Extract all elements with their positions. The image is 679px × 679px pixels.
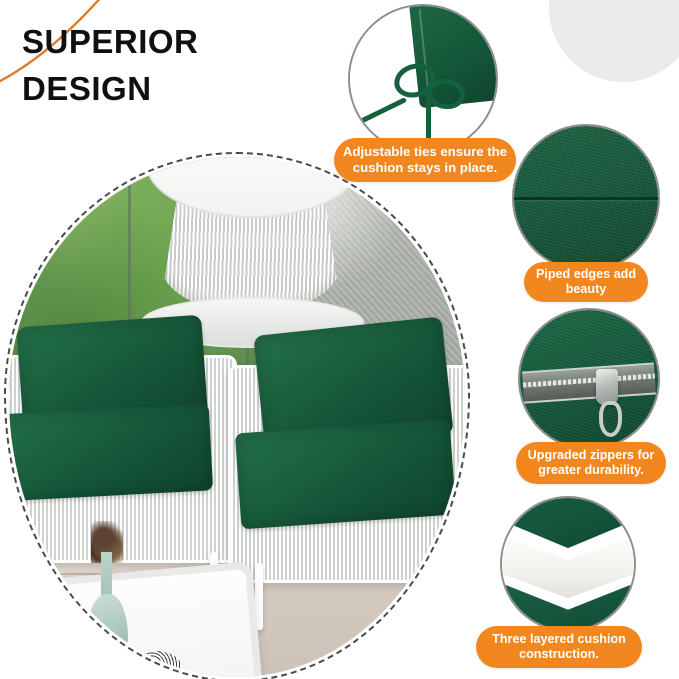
upgraded-zippers-photo (518, 308, 660, 450)
piped-edges-label[interactable]: Piped edges add beauty (524, 262, 648, 302)
infographic-canvas: SUPERIOR DESIGN (0, 0, 679, 679)
patio-chair-right (228, 365, 465, 583)
vase (87, 594, 128, 662)
candle-stand (45, 654, 85, 677)
hero-photo (4, 152, 470, 679)
adjustable-ties-label[interactable]: Adjustable ties ensure the cushion stays… (334, 138, 516, 182)
adjustable-ties-photo (348, 4, 498, 154)
piped-edges-photo (512, 124, 660, 272)
three-layered-label[interactable]: Three layered cushion construction. (476, 626, 642, 668)
page-title-line-1: SUPERIOR (22, 19, 342, 66)
corner-decoration-circle (549, 0, 679, 82)
three-layered-photo (500, 496, 636, 632)
page-title-line-2: DESIGN (22, 66, 342, 113)
seat-cushion (9, 403, 213, 502)
candle (45, 620, 83, 658)
patio-scene (9, 157, 465, 677)
piped-seam-icon (514, 197, 658, 200)
chair-leg (429, 552, 437, 625)
zipper-pull-tab (599, 401, 622, 437)
zipper-slider (596, 369, 618, 405)
hero-photo-clip (9, 157, 465, 677)
patio-chair-left (9, 355, 237, 563)
page-title: SUPERIOR DESIGN (22, 19, 342, 113)
upgraded-zippers-label[interactable]: Upgraded zippers for greater durability. (516, 442, 666, 484)
seat-cushion (235, 419, 456, 530)
